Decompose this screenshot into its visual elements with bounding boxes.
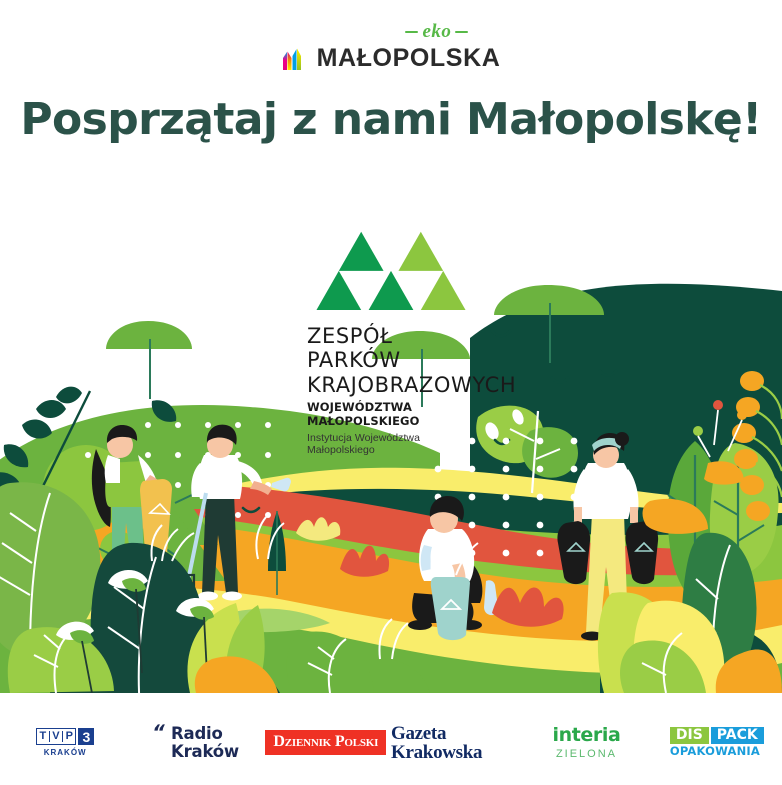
interia-text: interia <box>553 726 621 745</box>
sponsor-dziennik-polski[interactable]: Dziennik Polski <box>261 730 391 755</box>
malopolska-brand: MAŁOPOLSKA eko <box>282 45 501 71</box>
tvp-city-label: KRAKÓW <box>44 748 87 757</box>
brand-tagline-text: eko <box>422 22 451 41</box>
dispack-dis-text: DIS <box>670 727 709 744</box>
dispack-pack-text: PACK <box>711 727 764 744</box>
sponsor-radio-krakow[interactable]: “ Radio Kraków <box>130 725 260 760</box>
tvp-letter-p: P <box>63 731 75 742</box>
park-logo-line1: ZESPÓŁ PARKÓW KRAJOBRAZOWYCH <box>307 324 475 397</box>
tvp-letters-box: T V P <box>36 728 76 745</box>
radio-line2: Kraków <box>171 742 239 761</box>
gazeta-krakowska-text: Gazeta Krakowska <box>391 724 521 762</box>
poster-root: MAŁOPOLSKA eko Posprzątaj z nami Małopol… <box>0 0 782 785</box>
dash-left-icon <box>405 31 418 33</box>
tvp-letter-t: T <box>37 731 50 742</box>
page-title: Posprzątaj z nami Małopolskę! <box>0 96 782 144</box>
brand-tagline: eko <box>405 22 468 41</box>
sponsor-dispack[interactable]: DIS PACK OPAKOWANIA <box>652 727 782 758</box>
park-logo-line3: WOJEWÓDZTWA MAŁOPOLSKIEGO <box>307 401 475 429</box>
dispack-opakowania-text: OPAKOWANIA <box>670 745 764 758</box>
park-logo-line2-text: KRAJOBRAZOWYCH <box>307 373 516 397</box>
dash-right-icon <box>455 31 468 33</box>
sponsor-strip: T V P 3 KRAKÓW “ Radio Kraków Dziennik P… <box>0 700 782 785</box>
dziennik-polski-text: Dziennik Polski <box>273 734 378 750</box>
malopolska-m-icon <box>282 45 308 71</box>
park-logo: ZESPÓŁ PARKÓW KRAJOBRAZOWYCH WOJEWÓDZTWA… <box>0 228 782 457</box>
brand-bar: MAŁOPOLSKA eko <box>0 34 782 82</box>
radio-krakow-text: Radio Kraków <box>171 725 239 760</box>
tvp-number-3: 3 <box>78 728 94 745</box>
sponsor-interia-zielona[interactable]: interia ZIELONA <box>521 726 651 760</box>
tvp-letter-v: V <box>50 731 63 742</box>
park-logo-line1-text: ZESPÓŁ PARKÓW <box>307 324 401 372</box>
triangles-mountain-icon <box>316 228 466 310</box>
sponsor-gazeta-krakowska[interactable]: Gazeta Krakowska <box>391 724 521 762</box>
quote-mark-icon: “ <box>150 722 167 742</box>
brand-name: MAŁOPOLSKA <box>317 46 501 71</box>
interia-zielona-text: ZIELONA <box>556 749 617 760</box>
sponsor-tvp3[interactable]: T V P 3 KRAKÓW <box>0 728 130 757</box>
park-logo-line4: Instytucja Województwa Małopolskiego <box>307 432 475 457</box>
radio-line1: Radio <box>171 724 223 743</box>
